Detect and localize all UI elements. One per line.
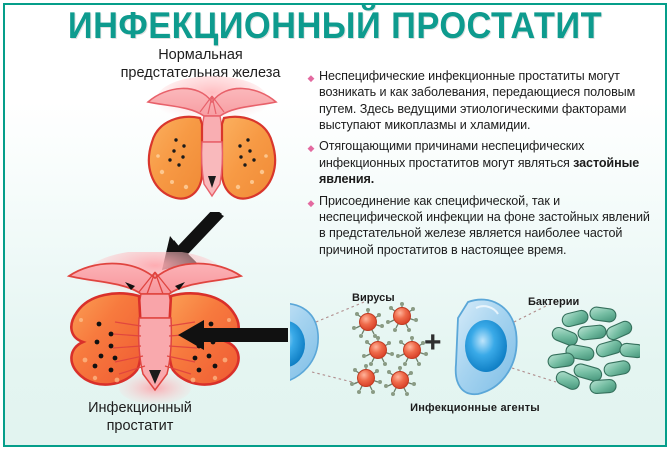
infected-prostate-caption-line2: простатит — [45, 418, 235, 436]
virus-particle — [386, 302, 418, 332]
bullet-2-main: Отягощающими причинами неспецифических и… — [319, 139, 584, 169]
list-item: ◆ Присоединение как специфической, так и… — [306, 193, 656, 258]
bullet-diamond-icon: ◆ — [306, 199, 316, 208]
agents-caption: Инфекционные агенты — [330, 402, 620, 415]
bullet-text-3: Присоединение как специфической, так и н… — [319, 193, 656, 258]
viruses-label: Вирусы — [352, 292, 395, 304]
bacterium — [561, 309, 589, 328]
bullet-text-1: Неспецифические инфекционные простатиты … — [319, 68, 656, 133]
virus-particle — [352, 308, 384, 338]
urethra-stem — [202, 116, 223, 142]
bullet-diamond-icon: ◆ — [306, 74, 316, 83]
bullet-1-main: Неспецифические инфекционные простатиты … — [319, 69, 635, 132]
bacteria-cluster — [547, 306, 640, 394]
plus-symbol: + — [424, 328, 442, 358]
infographic-poster: ИНФЕКЦИОННЫЙ ПРОСТАТИТ Нормальная предст… — [0, 0, 670, 450]
infected-prostate-caption-line1: Инфекционный — [45, 400, 235, 418]
bacterium — [619, 343, 640, 358]
prostate-lobe-right — [222, 117, 275, 199]
bacterium — [589, 306, 617, 322]
leader-lines-bacteria — [512, 300, 558, 382]
list-item: ◆ Неспецифические инфекционные простатит… — [306, 68, 656, 133]
virus-particle — [384, 366, 416, 396]
arrow-agents-to-prostate — [178, 318, 288, 352]
list-item: ◆ Отягощающими причинами неспецифических… — [306, 138, 656, 187]
virus-cluster — [350, 302, 428, 396]
bullet-diamond-icon: ◆ — [306, 144, 316, 153]
bacterium — [550, 326, 579, 348]
infectious-agents-illustration — [290, 288, 640, 406]
virus-particle — [362, 336, 394, 366]
bacterium — [590, 379, 617, 394]
bullet-list: ◆ Неспецифические инфекционные простатит… — [306, 68, 656, 263]
page-title: ИНФЕКЦИОННЫЙ ПРОСТАТИТ — [23, 5, 646, 47]
prostate-lobe-left — [149, 117, 202, 199]
cell-nucleus-right — [465, 320, 507, 372]
bacterium — [577, 325, 606, 341]
host-cell-right — [456, 300, 517, 395]
normal-prostate-illustration — [130, 72, 295, 222]
bacteria-label: Бактерии — [528, 296, 579, 308]
infected-prostate-caption: Инфекционный простатит — [45, 400, 235, 435]
bacterium — [603, 360, 631, 377]
virus-particle — [350, 364, 382, 394]
bullet-text-2: Отягощающими причинами неспецифических и… — [319, 138, 656, 187]
normal-prostate-caption-line1: Нормальная — [98, 47, 303, 65]
bacterium — [605, 319, 634, 341]
bacterium — [547, 352, 575, 368]
bullet-3-main: Присоединение как специфической, так и н… — [319, 194, 650, 257]
bacterium — [595, 339, 624, 359]
urethra-stem-infected — [139, 294, 172, 318]
